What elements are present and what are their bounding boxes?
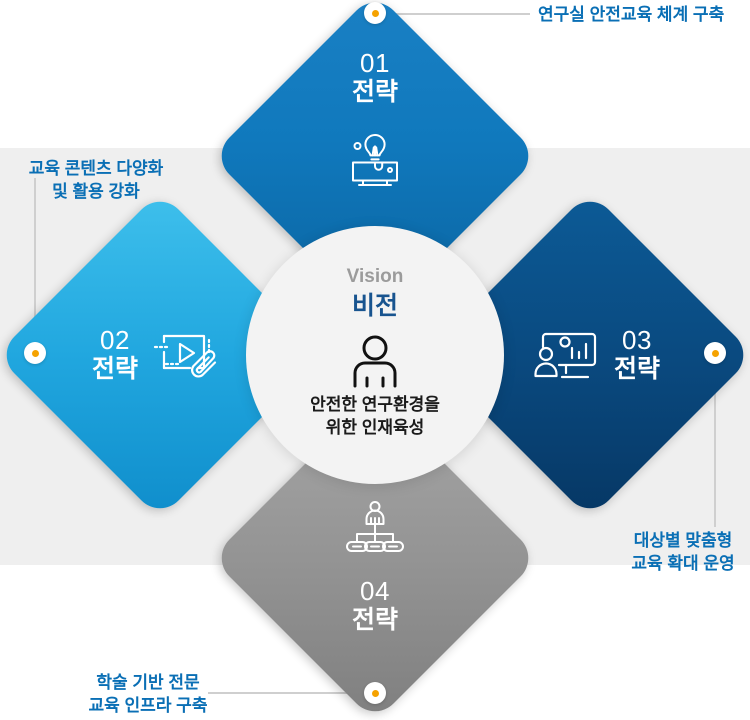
dot-center-bottom — [372, 690, 379, 697]
callout-bottom-right: 대상별 맞춤형 교육 확대 운영 — [618, 530, 748, 576]
person-icon — [349, 334, 401, 388]
vision-eng-label: Vision — [347, 267, 404, 288]
vision-description-line1: 안전한 연구환경을 — [310, 394, 440, 416]
connector-dot-top[interactable] — [364, 2, 386, 24]
connector-dot-right[interactable] — [704, 342, 726, 364]
connector-line-top — [386, 13, 530, 15]
dot-center-left — [32, 350, 39, 357]
connector-dot-left[interactable] — [24, 342, 46, 364]
strategy-diagram: 01 전략 02 전략 — [0, 0, 750, 720]
dot-center-top — [372, 10, 379, 17]
dot-center-right — [712, 350, 719, 357]
callout-top-right: 연구실 안전교육 체계 구축 — [538, 4, 748, 27]
vision-kor-label: 비전 — [352, 291, 398, 322]
callout-bottom-left: 학술 기반 전문 교육 인프라 구축 — [78, 672, 218, 718]
callout-top-left: 교육 콘텐츠 다양화 및 활용 강화 — [16, 158, 176, 204]
vision-circle[interactable]: Vision 비전 안전한 연구환경을 위한 인재육성 — [246, 226, 504, 484]
connector-dot-bottom[interactable] — [364, 682, 386, 704]
vision-description-line2: 위한 인재육성 — [326, 417, 425, 439]
connector-line-bottom — [208, 692, 366, 694]
